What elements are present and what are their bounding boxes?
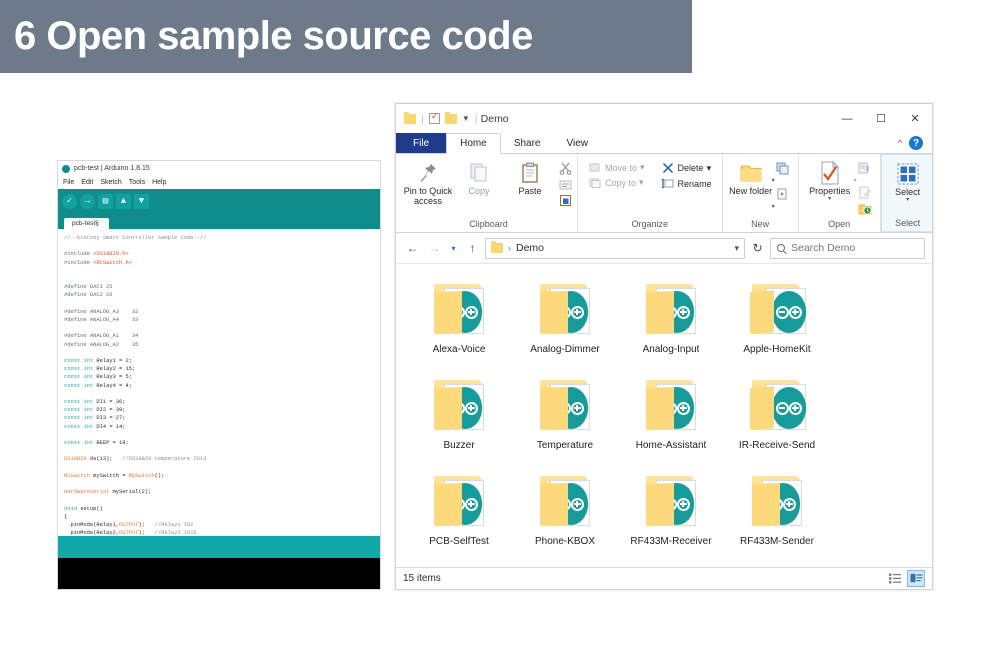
ribbon-group-clipboard: Pin to Quick access Copy — [400, 154, 578, 232]
paste-button[interactable]: Paste — [505, 158, 555, 196]
ribbon-right-controls: ^ ? — [898, 133, 932, 153]
search-icon — [777, 244, 785, 252]
details-view-button[interactable] — [886, 570, 904, 587]
arduino-menu-file[interactable]: File — [63, 179, 74, 186]
code-line — [64, 480, 374, 488]
move-to-icon — [588, 162, 602, 173]
new-small-icons: ▾ ▾ — [774, 158, 792, 210]
breadcrumb-current[interactable]: Demo — [516, 242, 544, 254]
folder-name: Analog-Input — [643, 344, 700, 355]
code-line — [64, 390, 374, 398]
code-line — [64, 242, 374, 250]
code-line — [64, 267, 374, 275]
code-line — [64, 464, 374, 472]
code-line: void setup() — [64, 505, 374, 513]
new-item-icon[interactable] — [775, 161, 791, 176]
tab-view[interactable]: View — [554, 133, 602, 153]
view-buttons — [886, 570, 925, 587]
address-bar: ← → ▾ ↑ › Demo ▾ ↻ Search Demo — [396, 233, 932, 263]
code-line: const int Relay4 = 4; — [64, 382, 374, 390]
folder-icon — [534, 472, 596, 532]
folder-item[interactable]: Analog-Dimmer — [512, 278, 618, 374]
properties-label: Properties — [809, 186, 850, 196]
new-folder-button[interactable]: New folder — [729, 158, 773, 196]
properties-button[interactable]: Properties ▾ — [805, 158, 855, 203]
folder-icon — [428, 376, 490, 436]
code-line — [64, 447, 374, 455]
code-line: HardwareSerial mySerial(2); — [64, 488, 374, 496]
paste-icon — [520, 160, 540, 186]
easy-access-caret-icon[interactable]: ▾ — [772, 203, 791, 210]
explorer-title-bar: | ▼ | Demo — ☐ ✕ — [396, 104, 932, 133]
copy-label: Copy — [468, 186, 489, 196]
arduino-menu-sketch[interactable]: Sketch — [100, 179, 121, 186]
arduino-sketch-tab[interactable]: pcb-test§ — [64, 218, 109, 229]
folder-icon — [534, 280, 596, 340]
breadcrumb[interactable]: › Demo ▾ — [485, 238, 745, 259]
folder-icon — [746, 376, 808, 436]
organize-col-2: Delete ▾ Rename — [658, 158, 715, 190]
folder-icon[interactable] — [404, 114, 416, 124]
ribbon-group-select: Select ▾ Select — [881, 154, 933, 232]
up-button[interactable]: ↑ — [463, 239, 482, 258]
refresh-button[interactable]: ↻ — [748, 239, 767, 258]
ribbon-group-label-organize: Organize — [585, 219, 715, 232]
folder-name: Alexa-Voice — [433, 344, 486, 355]
save-sketch-button[interactable]: ▼ — [134, 194, 149, 209]
arduino-menu-edit[interactable]: Edit — [81, 179, 93, 186]
folder-icon — [640, 280, 702, 340]
ribbon-group-new: New folder ▾ — [723, 154, 799, 232]
close-button[interactable]: ✕ — [898, 104, 932, 133]
edit-icon[interactable] — [857, 185, 873, 200]
folder-icon — [746, 280, 808, 340]
explorer-window-title: Demo — [481, 113, 509, 125]
arduino-menu-tools[interactable]: Tools — [129, 179, 145, 186]
folder-icon — [428, 280, 490, 340]
folder-icon — [746, 472, 808, 532]
rename-icon — [661, 178, 675, 189]
rename-label: Rename — [678, 179, 712, 189]
code-line — [64, 349, 374, 357]
ribbon-tab-strip: File Home Share View ^ ? — [396, 133, 932, 154]
banner-title: 6 Open sample source code — [0, 14, 533, 59]
copy-to-icon — [588, 177, 602, 188]
delete-icon — [661, 162, 675, 174]
chevron-down-icon[interactable]: ▼ — [462, 114, 470, 123]
clipboard-small-icons — [556, 158, 574, 208]
arduino-status-bar — [58, 536, 380, 558]
file-list-grid[interactable]: Alexa-VoiceAnalog-DimmerAnalog-InputAppl… — [396, 263, 932, 567]
pin-to-quick-access-button[interactable]: Pin to Quick access — [403, 158, 453, 207]
open-caret-icon[interactable]: ▾ — [854, 177, 873, 184]
code-line: const int DI1 = 36; — [64, 398, 374, 406]
new-folder-label: New folder — [729, 186, 772, 196]
tab-home[interactable]: Home — [446, 133, 501, 154]
move-to-label: Move to — [605, 163, 637, 173]
code-line: DS18B20 ds(13); //DS18B20 temperature IO… — [64, 455, 374, 463]
open-small-icons: ▾ — [856, 158, 874, 216]
arduino-menu-bar[interactable]: File Edit Sketch Tools Help — [58, 176, 380, 189]
folder-item[interactable]: Alexa-Voice — [406, 278, 512, 374]
code-line: const int DI4 = 14; — [64, 423, 374, 431]
forward-button[interactable]: → — [425, 239, 444, 258]
folder-name: Temperature — [537, 440, 593, 451]
qat-divider: | — [421, 113, 424, 125]
maximize-button[interactable]: ☐ — [864, 104, 898, 133]
folder-name: Analog-Dimmer — [530, 344, 599, 355]
folder-icon — [640, 376, 702, 436]
code-line: const int DI3 = 27; — [64, 414, 374, 422]
new-folder-icon — [739, 160, 763, 186]
ribbon-toolbar: Pin to Quick access Copy — [396, 154, 932, 233]
folder-item[interactable]: Phone-KBOX — [512, 470, 618, 566]
arduino-window-title: pcb-test | Arduino 1.8.15 — [74, 165, 150, 172]
copy-button[interactable]: Copy — [454, 158, 504, 196]
history-icon[interactable] — [857, 201, 873, 216]
rename-button[interactable]: Rename — [658, 177, 715, 190]
folder-item[interactable]: RF433M-Sender — [724, 470, 830, 566]
paste-shortcut-icon[interactable] — [557, 193, 573, 208]
code-line: #define ANALOG_A3 32 — [64, 308, 374, 316]
open-icon[interactable] — [857, 161, 873, 176]
copy-to-caret[interactable]: ▾ — [639, 177, 644, 188]
code-line — [64, 324, 374, 332]
folder-name: Phone-KBOX — [535, 536, 595, 547]
folder-item[interactable]: Temperature — [512, 374, 618, 470]
ribbon-group-label-new: New — [729, 219, 792, 232]
folder-item[interactable]: RF433M-Receiver — [618, 470, 724, 566]
arduino-menu-help[interactable]: Help — [152, 179, 166, 186]
large-icons-view-button[interactable] — [907, 570, 925, 587]
code-line: //--KinCony Smart Controller Sample Code… — [64, 234, 374, 242]
move-to-caret[interactable]: ▾ — [640, 162, 645, 173]
delete-button[interactable]: Delete ▾ — [658, 161, 715, 175]
breadcrumb-separator: › — [508, 243, 511, 253]
folder-item[interactable]: Wall-Switch — [618, 566, 724, 567]
recent-locations-button[interactable]: ▾ — [447, 239, 460, 258]
code-line: #define DAC2 26 — [64, 291, 374, 299]
code-line: pinMode(Relay1,OUTPUT); //Relay1 IO2 — [64, 521, 374, 529]
back-button[interactable]: ← — [403, 239, 422, 258]
verify-button[interactable]: ✓ — [62, 194, 77, 209]
move-to-button[interactable]: Move to ▾ — [585, 161, 648, 174]
code-line: const int Relay1 = 2; — [64, 357, 374, 365]
folder-item[interactable]: PCB-SelfTest — [406, 470, 512, 566]
folder-item[interactable]: RS232 — [406, 566, 512, 567]
new-sketch-button[interactable]: ▤ — [98, 194, 113, 209]
folder-name: IR-Receive-Send — [739, 440, 815, 451]
folder-item[interactable]: IR-Receive-Send — [724, 374, 830, 470]
folder-item[interactable]: Control-Relay — [512, 566, 618, 567]
code-line: { — [64, 513, 374, 521]
ribbon-group-label-clipboard: Clipboard — [403, 219, 574, 232]
select-caret-icon[interactable]: ▾ — [906, 197, 909, 204]
copy-to-button[interactable]: Copy to ▾ — [585, 176, 648, 189]
delete-caret[interactable]: ▾ — [707, 163, 712, 174]
delete-label: Delete — [678, 163, 704, 173]
select-button[interactable]: Select ▾ — [887, 159, 929, 204]
folder-name: Buzzer — [443, 440, 474, 451]
code-line: pinMode(Relay2,OUTPUT); //Relay2 IO15 — [64, 529, 374, 536]
help-icon[interactable]: ? — [909, 136, 923, 150]
code-line: #define DAC1 25 — [64, 283, 374, 291]
file-explorer-window: | ▼ | Demo — ☐ ✕ File Home Share View ^ … — [395, 103, 933, 590]
code-line — [64, 275, 374, 283]
code-line: #define ANALOG_A2 35 — [64, 341, 374, 349]
code-line: #include <RCSwitch.h> — [64, 259, 374, 267]
pin-to-quick-access-label: Pin to Quick access — [403, 186, 453, 207]
folder-item[interactable]: Analog-Input — [618, 278, 724, 374]
quick-access-toolbar: | ▼ | — [404, 113, 478, 125]
copy-path-icon[interactable] — [557, 177, 573, 192]
code-line: const int DI2 = 39; — [64, 406, 374, 414]
item-count: 15 items — [403, 573, 441, 584]
pin-icon — [418, 160, 438, 186]
code-line — [64, 300, 374, 308]
collapse-ribbon-icon[interactable]: ^ — [898, 138, 902, 148]
code-line: #include <DS18B20.h> — [64, 250, 374, 258]
organize-col-1: Move to ▾ Copy to ▾ — [585, 158, 648, 189]
breadcrumb-dropdown-icon[interactable]: ▾ — [734, 243, 739, 254]
copy-to-label: Copy to — [605, 178, 636, 188]
folder-name: RF433M-Sender — [740, 536, 814, 547]
arduino-title-bar: pcb-test | Arduino 1.8.15 — [58, 161, 380, 176]
upload-button[interactable]: → — [80, 194, 95, 209]
folder-name: RF433M-Receiver — [630, 536, 711, 547]
search-box[interactable]: Search Demo — [770, 238, 925, 259]
folder-item[interactable]: Buzzer — [406, 374, 512, 470]
code-line: #define ANALOG_A1 34 — [64, 332, 374, 340]
code-line — [64, 497, 374, 505]
folder-name: Home-Assistant — [636, 440, 707, 451]
folder-name: PCB-SelfTest — [429, 536, 488, 547]
breadcrumb-folder-icon — [491, 243, 503, 253]
folder-item[interactable]: Apple-HomeKit — [724, 278, 830, 374]
select-icon — [896, 161, 920, 187]
select-label: Select — [895, 187, 920, 197]
ribbon-group-open: Properties ▾ ▾ — [799, 154, 881, 232]
qat-divider-2: | — [475, 113, 478, 125]
folder-icon — [534, 376, 596, 436]
folder-name: Apple-HomeKit — [743, 344, 810, 355]
arduino-logo-icon — [62, 165, 70, 173]
ribbon-group-label-open: Open — [805, 219, 874, 232]
status-bar: 15 items — [396, 567, 932, 589]
ribbon-group-organize: Move to ▾ Copy to ▾ — [578, 154, 723, 232]
code-line: #define ANALOG_A4 33 — [64, 316, 374, 324]
window-controls: — ☐ ✕ — [830, 104, 932, 133]
folder-icon — [640, 472, 702, 532]
open-sketch-button[interactable]: ▲ — [116, 194, 131, 209]
code-line: const int Relay3 = 5; — [64, 373, 374, 381]
arduino-ide-window: pcb-test | Arduino 1.8.15 File Edit Sket… — [57, 160, 381, 590]
search-placeholder: Search Demo — [791, 242, 855, 254]
arduino-tab-bar: pcb-test§ — [58, 213, 380, 229]
folder-item[interactable]: Home-Assistant — [618, 374, 724, 470]
cut-icon[interactable] — [557, 161, 573, 176]
ribbon-group-label-select: Select — [887, 218, 929, 231]
tab-share[interactable]: Share — [501, 133, 554, 153]
page-banner: 6 Open sample source code — [0, 0, 692, 73]
code-line — [64, 431, 374, 439]
minimize-button[interactable]: — — [830, 104, 864, 133]
properties-caret-icon[interactable]: ▾ — [828, 196, 831, 203]
properties-icon — [819, 160, 841, 186]
code-line: RCSwitch mySwitch = RCSwitch(); — [64, 472, 374, 480]
new-item-caret-icon[interactable]: ▾ — [772, 177, 791, 184]
arduino-code-editor[interactable]: //--KinCony Smart Controller Sample Code… — [58, 229, 380, 536]
paste-label: Paste — [518, 186, 541, 196]
copy-icon — [469, 160, 489, 186]
arduino-console-output — [58, 558, 380, 590]
code-line: const int Relay2 = 15; — [64, 365, 374, 373]
properties-icon[interactable] — [429, 113, 440, 124]
tab-file[interactable]: File — [396, 133, 446, 153]
new-folder-icon[interactable] — [445, 114, 457, 124]
folder-icon — [428, 472, 490, 532]
easy-access-icon[interactable] — [775, 187, 791, 202]
arduino-toolbar: ✓ → ▤ ▲ ▼ — [58, 189, 380, 213]
code-line: const int BEEP = 18; — [64, 439, 374, 447]
